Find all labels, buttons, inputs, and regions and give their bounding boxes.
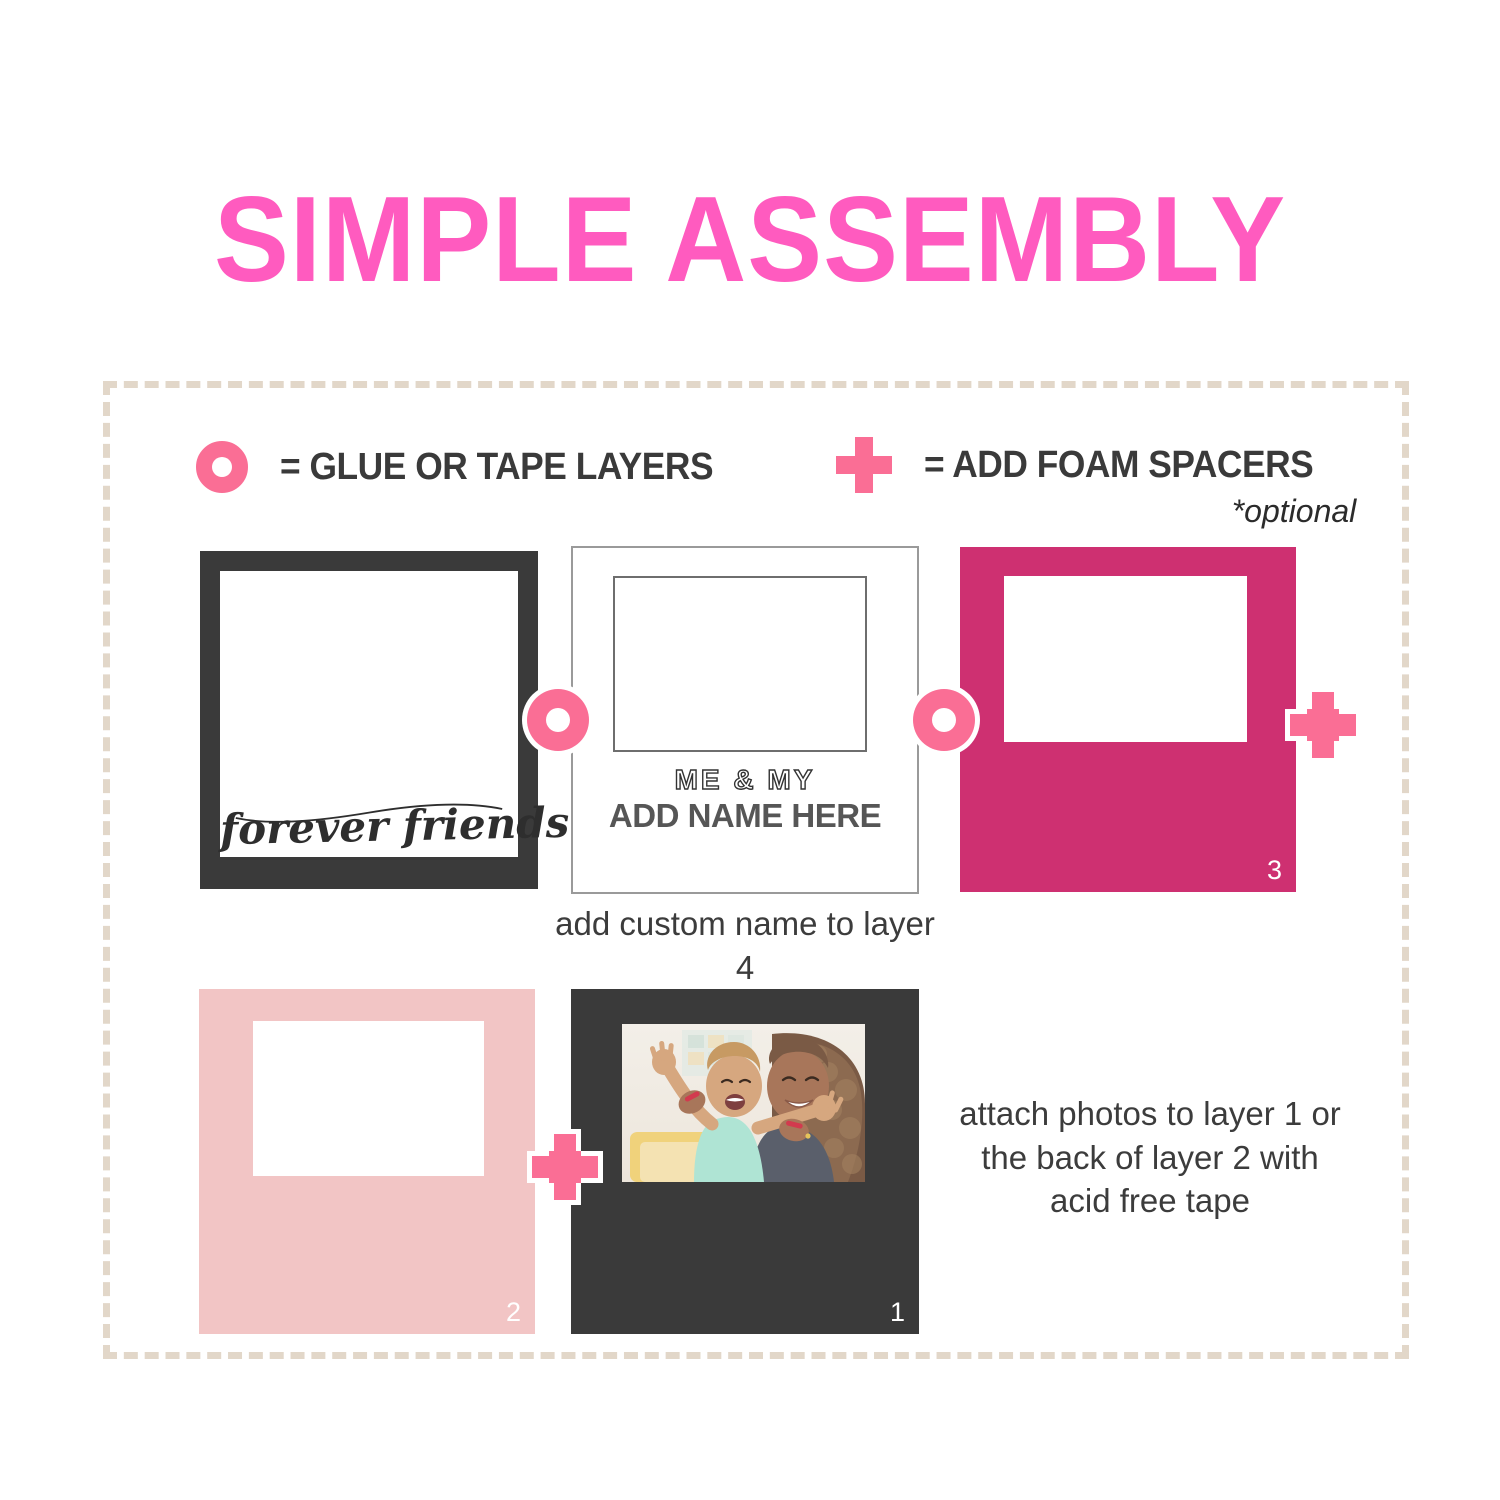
layer-card-add-name: ME & MY ADD NAME HERE	[571, 546, 919, 894]
ring-icon	[527, 689, 589, 751]
cross-center	[549, 1151, 581, 1183]
layer-card-2: 2	[199, 989, 535, 1334]
optional-note: *optional	[1034, 493, 1500, 530]
layer-number-1: 1	[890, 1299, 905, 1326]
assembly-instructions-page: SIMPLE ASSEMBLY = GLUE OR TAPE LAYERS = …	[0, 0, 1500, 1500]
connector-ring-2	[913, 689, 975, 751]
layer-card-3: 3	[960, 547, 1296, 892]
legend: = GLUE OR TAPE LAYERS = ADD FOAM SPACERS…	[196, 437, 1356, 527]
connector-cross-1	[1285, 687, 1351, 753]
photo-illustration	[622, 1024, 865, 1182]
connector-cross-2	[527, 1129, 593, 1195]
caption-attach-photos: attach photos to layer 1 or the back of …	[950, 1092, 1350, 1223]
me-and-my-text: ME & MY	[573, 764, 917, 796]
cross-icon	[836, 437, 892, 493]
layer-number-2: 2	[506, 1299, 521, 1326]
layer-card-1: 1	[571, 989, 919, 1334]
cross-icon	[527, 1129, 593, 1195]
add-name-here-text: ADD NAME HERE	[573, 797, 917, 835]
card-window	[1004, 576, 1247, 742]
caption-custom-name: add custom name to layer 4	[545, 902, 945, 989]
cross-center	[1307, 709, 1339, 741]
card-window	[253, 1021, 484, 1176]
page-title: SIMPLE ASSEMBLY	[60, 178, 1440, 300]
legend-item-foam: = ADD FOAM SPACERS	[836, 437, 1343, 493]
layer-number-3: 3	[1267, 857, 1282, 884]
ring-icon	[196, 441, 248, 493]
ring-icon	[913, 689, 975, 751]
card-window	[613, 576, 867, 752]
connector-ring-1	[527, 689, 589, 751]
cross-icon	[1285, 687, 1351, 753]
legend-item-glue: = GLUE OR TAPE LAYERS	[196, 441, 746, 493]
legend-label-glue: = GLUE OR TAPE LAYERS	[280, 446, 713, 489]
mother-and-toddler-photo	[622, 1024, 865, 1182]
legend-label-foam: = ADD FOAM SPACERS	[924, 444, 1313, 487]
script-text-forever-friends: forever friends	[220, 799, 519, 854]
layer-card-forever-friends: forever friends	[200, 551, 538, 889]
card-window: forever friends	[220, 571, 518, 857]
